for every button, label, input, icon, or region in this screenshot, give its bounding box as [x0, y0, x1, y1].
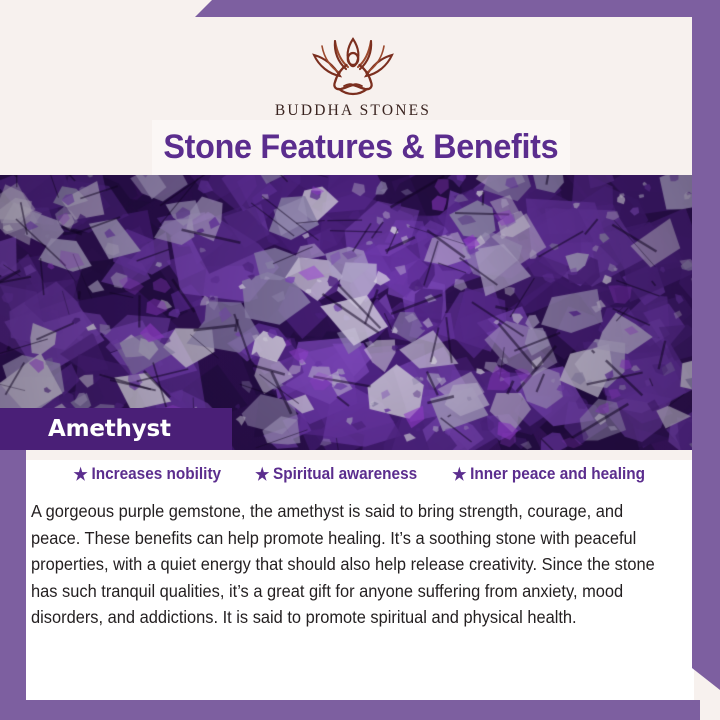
benefit-label: Spiritual awareness: [273, 465, 417, 484]
benefit-item: ★ Inner peace and healing: [452, 465, 645, 484]
benefit-label: Inner peace and healing: [470, 465, 645, 484]
benefit-item: ★ Increases nobility: [73, 465, 221, 484]
page-title: Stone Features & Benefits: [164, 128, 559, 167]
stone-benefits-poster: BUDDHA STONES Stone Features & Benefits …: [0, 0, 720, 720]
card-top-strip: [26, 450, 694, 460]
stone-name: Amethyst: [48, 416, 171, 442]
brand-name: BUDDHA STONES: [275, 102, 431, 120]
lotus-meditation-figure-icon: [278, 28, 428, 100]
star-icon: ★: [452, 466, 466, 483]
deco-bottom-band: [0, 700, 700, 720]
deco-left-strip: [0, 440, 26, 720]
star-icon: ★: [73, 466, 87, 483]
benefits-list: ★ Increases nobility ★ Spiritual awarene…: [26, 465, 694, 484]
benefit-item: ★ Spiritual awareness: [255, 465, 417, 484]
content-card: ★ Increases nobility ★ Spiritual awarene…: [26, 450, 694, 700]
star-icon: ★: [255, 466, 269, 483]
benefit-label: Increases nobility: [91, 465, 221, 484]
stone-name-banner: Amethyst: [0, 408, 232, 450]
title-plate: Stone Features & Benefits: [152, 120, 570, 175]
stone-description: A gorgeous purple gemstone, the amethyst…: [31, 498, 661, 631]
deco-top-band: [195, 0, 720, 17]
deco-right-strip: [692, 0, 720, 690]
